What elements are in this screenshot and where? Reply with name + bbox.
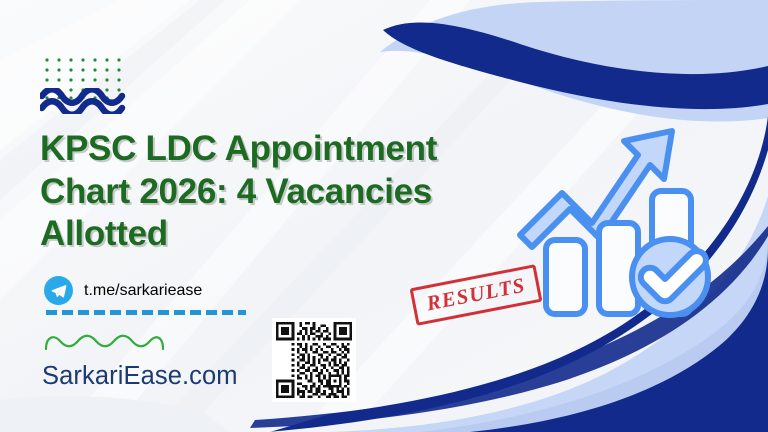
banner-image: KPSC LDC Appointment Chart 2026: 4 Vacan…	[0, 0, 768, 432]
telegram-icon	[44, 276, 73, 305]
telegram-link[interactable]: t.me/sarkariease	[44, 276, 202, 305]
qr-code[interactable]	[272, 318, 356, 402]
page-title: KPSC LDC Appointment Chart 2026: 4 Vacan…	[40, 128, 520, 256]
telegram-handle: t.me/sarkariease	[84, 282, 202, 300]
dashed-divider	[46, 310, 246, 315]
check-circle-icon	[632, 239, 708, 315]
navy-wave-decoration	[40, 88, 126, 114]
brand-name: SarkariEase.com	[42, 362, 238, 391]
green-wave-decoration	[44, 331, 166, 353]
